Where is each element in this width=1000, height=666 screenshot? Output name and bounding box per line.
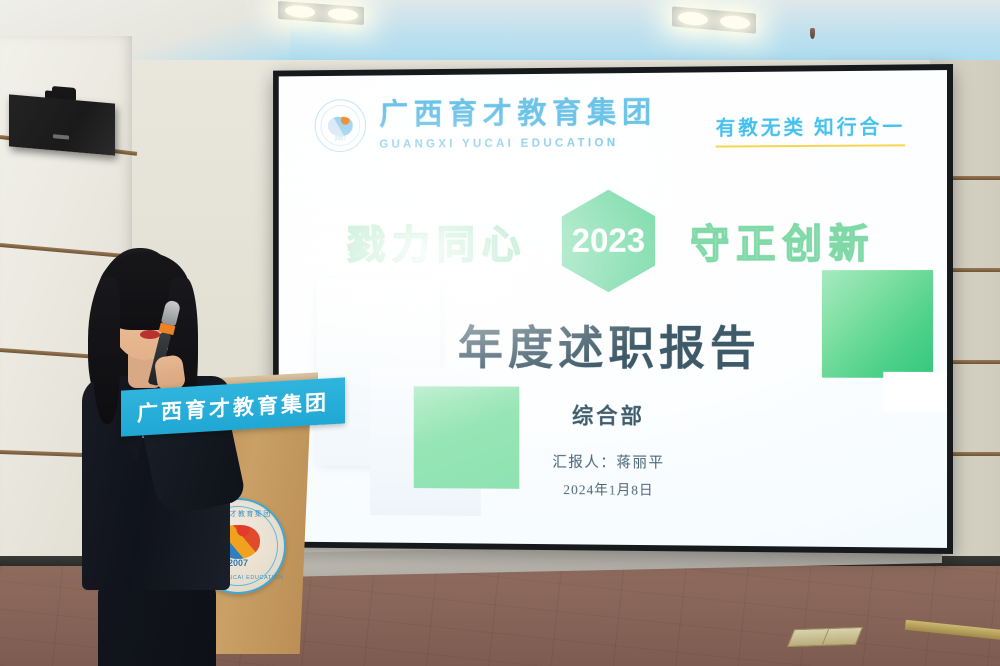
slide-title: 年度述职报告: [279, 310, 947, 379]
brand-name-en: GUANGXI YUCAI EDUCATION: [379, 135, 657, 151]
projection-screen[interactable]: 2007 广西育才教育集团 GUANGXI YUCAI EDUCATION 有教…: [273, 64, 953, 554]
presenter-person: [70, 238, 260, 666]
conference-room-scene: 2007 广西育才教育集团 GUANGXI YUCAI EDUCATION 有教…: [0, 0, 1000, 666]
brand-seal-icon: 2007: [315, 99, 366, 152]
seal-year: 2007: [334, 136, 346, 142]
person-hair-side: [92, 278, 120, 424]
slide-brand-lockup: 2007 广西育才教育集团 GUANGXI YUCAI EDUCATION: [315, 97, 657, 153]
slide-slogan: 有教无类 知行合一: [716, 110, 906, 147]
seal-flame-mark: [328, 117, 353, 137]
slide-department: 综合部: [279, 398, 947, 432]
slogan-underline: [716, 144, 906, 147]
wall-speaker-icon: [9, 94, 115, 155]
presentation-slide: 2007 广西育才教育集团 GUANGXI YUCAI EDUCATION 有教…: [279, 70, 947, 548]
floor-socket-icon: [787, 627, 863, 647]
podium-banner-text: 广西育才教育集团: [137, 386, 329, 427]
headline-right: 守正创新: [690, 211, 875, 269]
person-legs: [98, 582, 216, 666]
headline-left: 戮力同心: [347, 213, 527, 270]
slogan-text: 有教无类 知行合一: [716, 110, 906, 140]
brand-name-cn: 广西育才教育集团: [379, 98, 657, 130]
year-hexagon: 2023: [562, 189, 655, 292]
slide-headline-row: 戮力同心 2023 守正创新: [279, 188, 947, 292]
year-label: 2023: [572, 222, 645, 261]
sprinkler-head-icon: [810, 28, 815, 39]
